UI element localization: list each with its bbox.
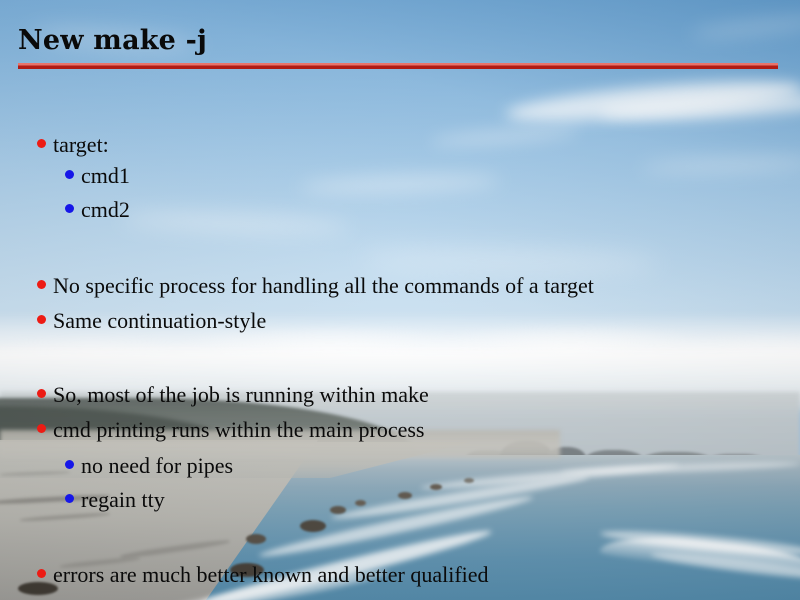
bullet-item-level1: target:: [37, 134, 109, 156]
bullet-text: Same continuation-style: [53, 310, 266, 332]
blue-bullet-icon: [65, 170, 74, 179]
bullet-item-level1: So, most of the job is running within ma…: [37, 384, 429, 406]
bullet-text: cmd1: [81, 165, 130, 187]
bullet-text: no need for pipes: [81, 455, 233, 477]
bullet-text: cmd2: [81, 199, 130, 221]
bullet-text: regain tty: [81, 489, 165, 511]
bullet-text: errors are much better known and better …: [53, 564, 489, 586]
bullet-item-level2: regain tty: [65, 489, 165, 511]
red-bullet-icon: [37, 424, 46, 433]
bullet-item-level1: Same continuation-style: [37, 310, 266, 332]
bullet-item-level2: cmd2: [65, 199, 130, 221]
blue-bullet-icon: [65, 204, 74, 213]
blue-bullet-icon: [65, 460, 74, 469]
red-bullet-icon: [37, 569, 46, 578]
bullet-text: cmd printing runs within the main proces…: [53, 419, 425, 441]
red-bullet-icon: [37, 139, 46, 148]
blue-bullet-icon: [65, 494, 74, 503]
bullet-item-level1: cmd printing runs within the main proces…: [37, 419, 425, 441]
bullet-item-level2: cmd1: [65, 165, 130, 187]
red-bullet-icon: [37, 280, 46, 289]
red-bullet-icon: [37, 315, 46, 324]
bullet-item-level1: No specific process for handling all the…: [37, 275, 594, 297]
presentation-slide: New make -j target:cmd1cmd2No specific p…: [0, 0, 800, 600]
bullet-text: So, most of the job is running within ma…: [53, 384, 429, 406]
slide-body: target:cmd1cmd2No specific process for h…: [0, 0, 800, 600]
red-bullet-icon: [37, 389, 46, 398]
bullet-text: No specific process for handling all the…: [53, 275, 594, 297]
bullet-item-level1: errors are much better known and better …: [37, 564, 489, 586]
bullet-item-level2: no need for pipes: [65, 455, 233, 477]
bullet-text: target:: [53, 134, 109, 156]
